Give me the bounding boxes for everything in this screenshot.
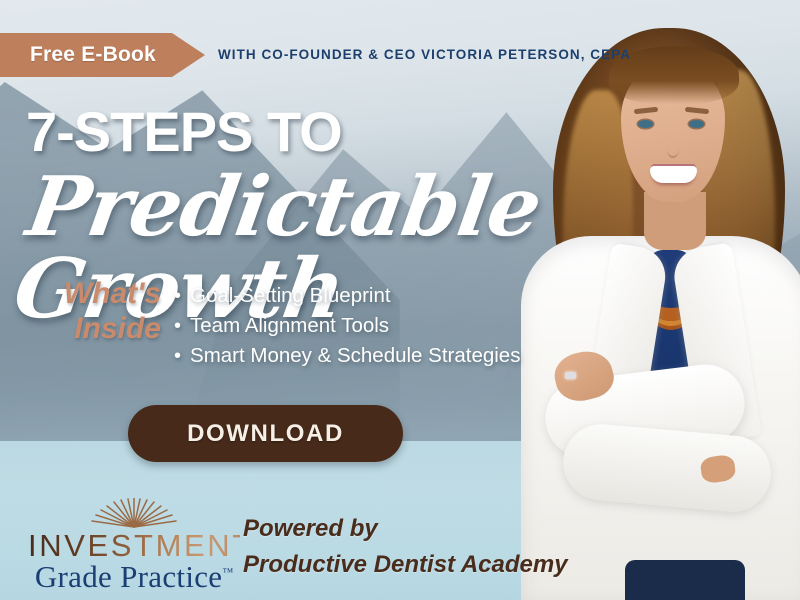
- trademark-symbol: ™: [222, 567, 233, 579]
- list-item-label: Smart Money & Schedule Strategies: [190, 341, 520, 371]
- free-ebook-tag: Free E-Book: [0, 33, 205, 77]
- free-ebook-tag-label: Free E-Book: [0, 43, 156, 67]
- eye-left: [638, 120, 653, 128]
- list-item: • Goal-Setting Blueprint: [174, 281, 520, 311]
- powered-by-line2: Productive Dentist Academy: [243, 547, 568, 583]
- benefits-list: • Goal-Setting Blueprint • Team Alignmen…: [174, 281, 520, 371]
- nose: [667, 140, 679, 158]
- bullet-icon: •: [174, 286, 181, 306]
- logo-grade-practice-text: Grade Practice: [35, 559, 223, 594]
- logo-word-grade-practice: Grade Practice™: [28, 561, 240, 594]
- list-item-label: Team Alignment Tools: [190, 311, 389, 341]
- powered-by-line1: Powered by: [243, 511, 568, 547]
- list-item-label: Goal-Setting Blueprint: [190, 281, 391, 311]
- whats-inside-label: What's Inside: [28, 276, 161, 346]
- eye-right: [689, 120, 704, 128]
- headline-primary: 7-STEPS TO: [26, 104, 342, 160]
- ebook-promo-banner: Free E-Book WITH CO-FOUNDER & CEO VICTOR…: [0, 0, 800, 600]
- powered-by-block: Powered by Productive Dentist Academy: [243, 511, 568, 584]
- investment-grade-practice-logo: INVESTMENT Grade Practice™: [28, 498, 240, 594]
- download-button[interactable]: DOWNLOAD: [128, 405, 403, 462]
- list-item: • Smart Money & Schedule Strategies: [174, 341, 520, 371]
- bullet-icon: •: [174, 346, 181, 366]
- trousers: [625, 560, 745, 600]
- presenter-credit: WITH CO-FOUNDER & CEO VICTORIA PETERSON,…: [218, 47, 631, 62]
- ring: [565, 372, 576, 379]
- list-item: • Team Alignment Tools: [174, 311, 520, 341]
- bullet-icon: •: [174, 316, 181, 336]
- sunburst-fan-icon: [86, 498, 182, 528]
- logo-word-investment: INVESTMENT: [28, 529, 240, 562]
